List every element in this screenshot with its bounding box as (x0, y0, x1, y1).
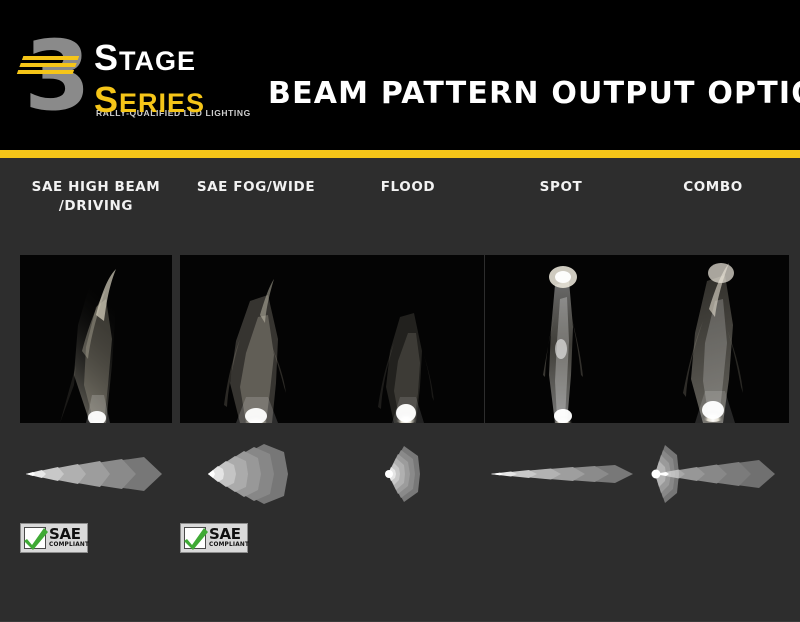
checkmark-icon (24, 527, 46, 549)
logo-stripe-accent-icon (17, 56, 80, 74)
beam-diagram (20, 440, 172, 508)
logo-numeral-3: 3 (24, 28, 87, 124)
beam-diagram (485, 440, 637, 508)
beam-option-label: SPOT (477, 178, 645, 197)
beam-option-label-line1: COMBO (629, 178, 797, 197)
yellow-accent-divider (0, 150, 800, 158)
beam-option-label: COMBO (629, 178, 797, 197)
sae-badge-main: SAE (209, 527, 249, 542)
beam-option-label: SAE HIGH BEAM /DRIVING (12, 178, 180, 216)
beam-diagram (332, 440, 484, 508)
page-title: BEAM PATTERN OUTPUT OPTIONS (268, 76, 800, 111)
beam-photo (637, 255, 789, 423)
sae-badge-sub: COMPLIANT (209, 543, 249, 549)
beam-option-column: SAE HIGH BEAM /DRIVING (20, 168, 172, 568)
beam-photo (20, 255, 172, 423)
beam-option-column: FLOOD (332, 168, 484, 568)
beam-option-label-line2: /DRIVING (12, 197, 180, 216)
beam-option-label-line1: SPOT (477, 178, 645, 197)
brand-logo: 3 STAGE SERIES RALLY-QUALIFIED LED LIGHT… (24, 26, 239, 130)
beam-option-column: SPOT (485, 168, 637, 568)
logo-word-stage-rest: TAGE (119, 46, 196, 76)
logo-word-series-rest: ERIES (119, 88, 205, 118)
beam-photo (332, 255, 484, 423)
sae-badge-sub: COMPLIANT (49, 543, 89, 549)
beam-diagram (637, 440, 789, 508)
logo-word-stage: STAGE (94, 40, 244, 76)
beam-photo (180, 255, 332, 423)
beam-diagram (180, 440, 332, 508)
logo-word-series: SERIES (94, 82, 244, 118)
sae-badge-main: SAE (49, 527, 89, 542)
beam-option-column: COMBO (637, 168, 789, 568)
logo-wordmark: STAGE SERIES (94, 40, 244, 118)
sae-badge-text: SAE COMPLIANT (49, 527, 89, 549)
beam-option-label: SAE FOG/WIDE (172, 178, 340, 197)
beam-option-label: FLOOD (324, 178, 492, 197)
checkmark-icon (184, 527, 206, 549)
beam-option-label-line1: SAE FOG/WIDE (172, 178, 340, 197)
sae-compliant-badge: SAE COMPLIANT (180, 523, 248, 553)
beam-option-column: SAE FOG/WIDE (180, 168, 332, 568)
beam-pattern-infographic: 3 STAGE SERIES RALLY-QUALIFIED LED LIGHT… (0, 0, 800, 622)
beam-photo (485, 255, 637, 423)
sae-badge-text: SAE COMPLIANT (209, 527, 249, 549)
header-banner: 3 STAGE SERIES RALLY-QUALIFIED LED LIGHT… (0, 0, 800, 150)
sae-compliant-badge: SAE COMPLIANT (20, 523, 88, 553)
beam-option-label-line1: FLOOD (324, 178, 492, 197)
beam-options-grid: SAE HIGH BEAM /DRIVING (0, 168, 800, 588)
beam-option-label-line1: SAE HIGH BEAM (12, 178, 180, 197)
